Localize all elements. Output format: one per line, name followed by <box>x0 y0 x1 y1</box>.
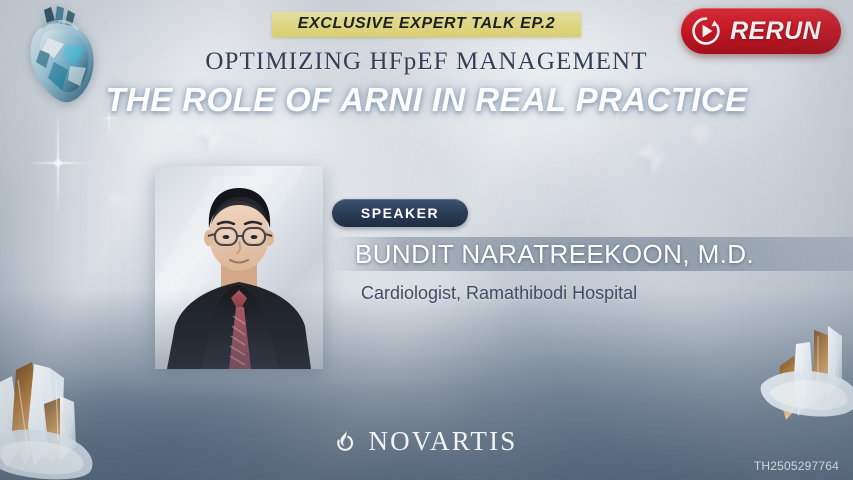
eyebrow-text: EXCLUSIVE EXPERT TALK EP.2 <box>298 15 555 32</box>
speaker-badge: SPEAKER <box>332 199 468 227</box>
bokeh-diamond-right <box>636 143 666 177</box>
reference-code: TH2505297764 <box>754 460 839 472</box>
subject-line: OPTIMIZING HFpEF MANAGEMENT <box>0 48 853 76</box>
webinar-title-slide: RERUN EXCLUSIVE EXPERT TALK EP.2 OPTIMIZ… <box>0 0 853 480</box>
novartis-logo: NOVARTIS <box>0 428 853 455</box>
speaker-badge-label: SPEAKER <box>361 206 439 220</box>
novartis-wordmark: NOVARTIS <box>368 428 517 455</box>
novartis-flame-icon <box>335 429 358 454</box>
speaker-name: BUNDIT NARATREEKOON, M.D. <box>355 240 754 269</box>
crystal-cluster-bottom-left <box>0 330 122 480</box>
eyebrow-banner: EXCLUSIVE EXPERT TALK EP.2 <box>272 12 581 37</box>
bokeh-diamond-left <box>106 190 124 210</box>
page-title: THE ROLE OF ARNI IN REAL PRACTICE <box>0 82 853 119</box>
crystal-cluster-bottom-right <box>760 324 853 434</box>
bokeh-diamond-top-center <box>196 123 222 153</box>
bokeh-diamond-mid-right <box>690 123 712 147</box>
header-block: EXCLUSIVE EXPERT TALK EP.2 OPTIMIZING HF… <box>0 12 853 119</box>
